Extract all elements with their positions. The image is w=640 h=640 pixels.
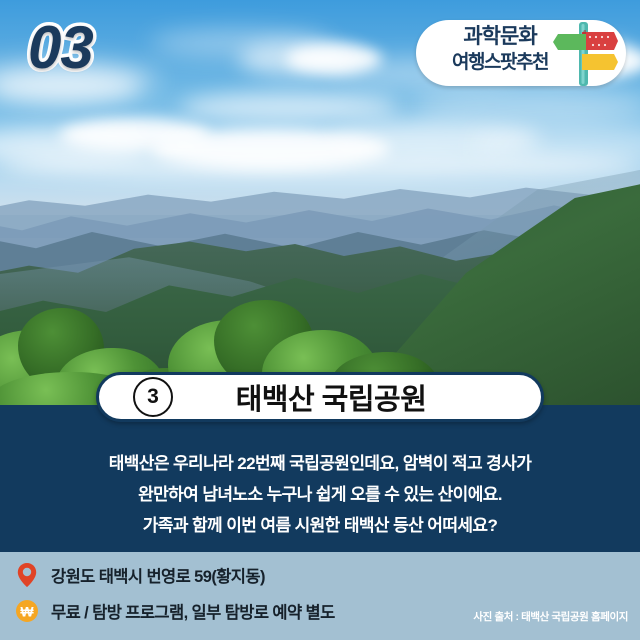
spot-title-pill: 3 태백산 국립공원 <box>96 372 544 422</box>
map-pin-icon <box>14 561 40 589</box>
cloud-decoration <box>180 92 400 122</box>
card-number-badge: 03 <box>28 18 93 78</box>
photo-credit: 사진 출처 : 태백산 국립공원 홈페이지 <box>473 609 628 624</box>
brand-line-1: 과학문화 <box>430 24 570 50</box>
brand-logo-text: 과학문화 여행스팟추천 <box>430 24 570 76</box>
cloud-decoration <box>410 88 640 122</box>
won-currency-icon: ₩ <box>14 597 40 625</box>
address-row: 강원도 태백시 번영로 59(황지동) <box>14 561 265 589</box>
svg-text:₩: ₩ <box>20 604 34 620</box>
brand-line-2: 여행스팟추천 <box>430 50 570 76</box>
description-line-1: 태백산은 우리나라 22번째 국립공원인데요, 암벽이 적고 경사가 <box>0 448 640 479</box>
cloud-decoration <box>0 150 640 180</box>
fee-text: 무료 / 탐방 프로그램, 일부 탐방로 예약 별도 <box>51 599 335 623</box>
address-text: 강원도 태백시 번영로 59(황지동) <box>51 563 265 587</box>
spot-description: 태백산은 우리나라 22번째 국립공원인데요, 암벽이 적고 경사가 완만하여 … <box>0 448 640 541</box>
description-line-2: 완만하여 남녀노소 누구나 쉽게 오를 수 있는 산이에요. <box>0 479 640 510</box>
signpost-icon <box>552 20 618 88</box>
brand-logo: 과학문화 여행스팟추천 <box>416 14 632 92</box>
spot-index-circle: 3 <box>133 377 173 417</box>
description-line-3: 가족과 함께 이번 여름 시원한 태백산 등산 어떠세요? <box>0 510 640 541</box>
page-title: 태백산 국립공원 <box>173 376 489 418</box>
travel-spot-card: 03 과학문화 여행스팟추천 3 태백산 국립공원 <box>0 0 640 640</box>
fee-row: ₩ 무료 / 탐방 프로그램, 일부 탐방로 예약 별도 <box>14 597 335 625</box>
